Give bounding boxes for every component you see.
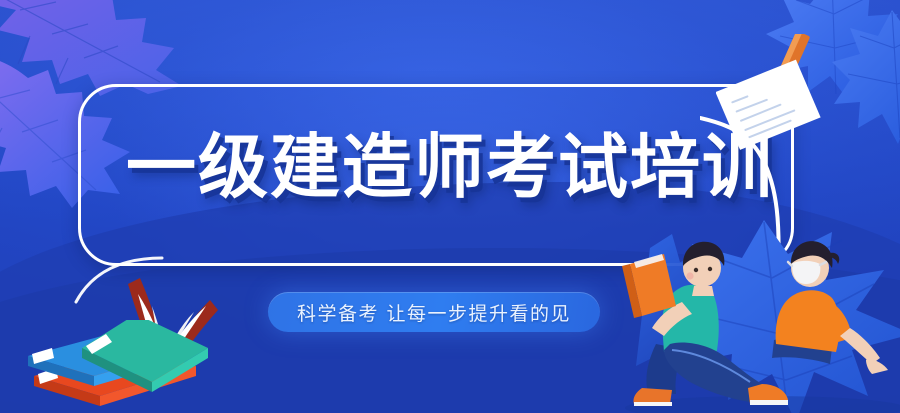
subtitle-pill: 科学备考 让每一步提升看的见 xyxy=(268,292,600,332)
student-reading-icon xyxy=(622,242,788,406)
book-stack-icon xyxy=(20,320,210,413)
student-masked-icon xyxy=(772,241,888,374)
subtitle-text: 科学备考 让每一步提升看的见 xyxy=(297,299,571,326)
students-illustration xyxy=(620,232,900,413)
promo-banner: 一级建造师考试培训 科学备考 让每一步提升看的见 xyxy=(0,0,900,413)
decor-wire-left xyxy=(52,250,172,310)
